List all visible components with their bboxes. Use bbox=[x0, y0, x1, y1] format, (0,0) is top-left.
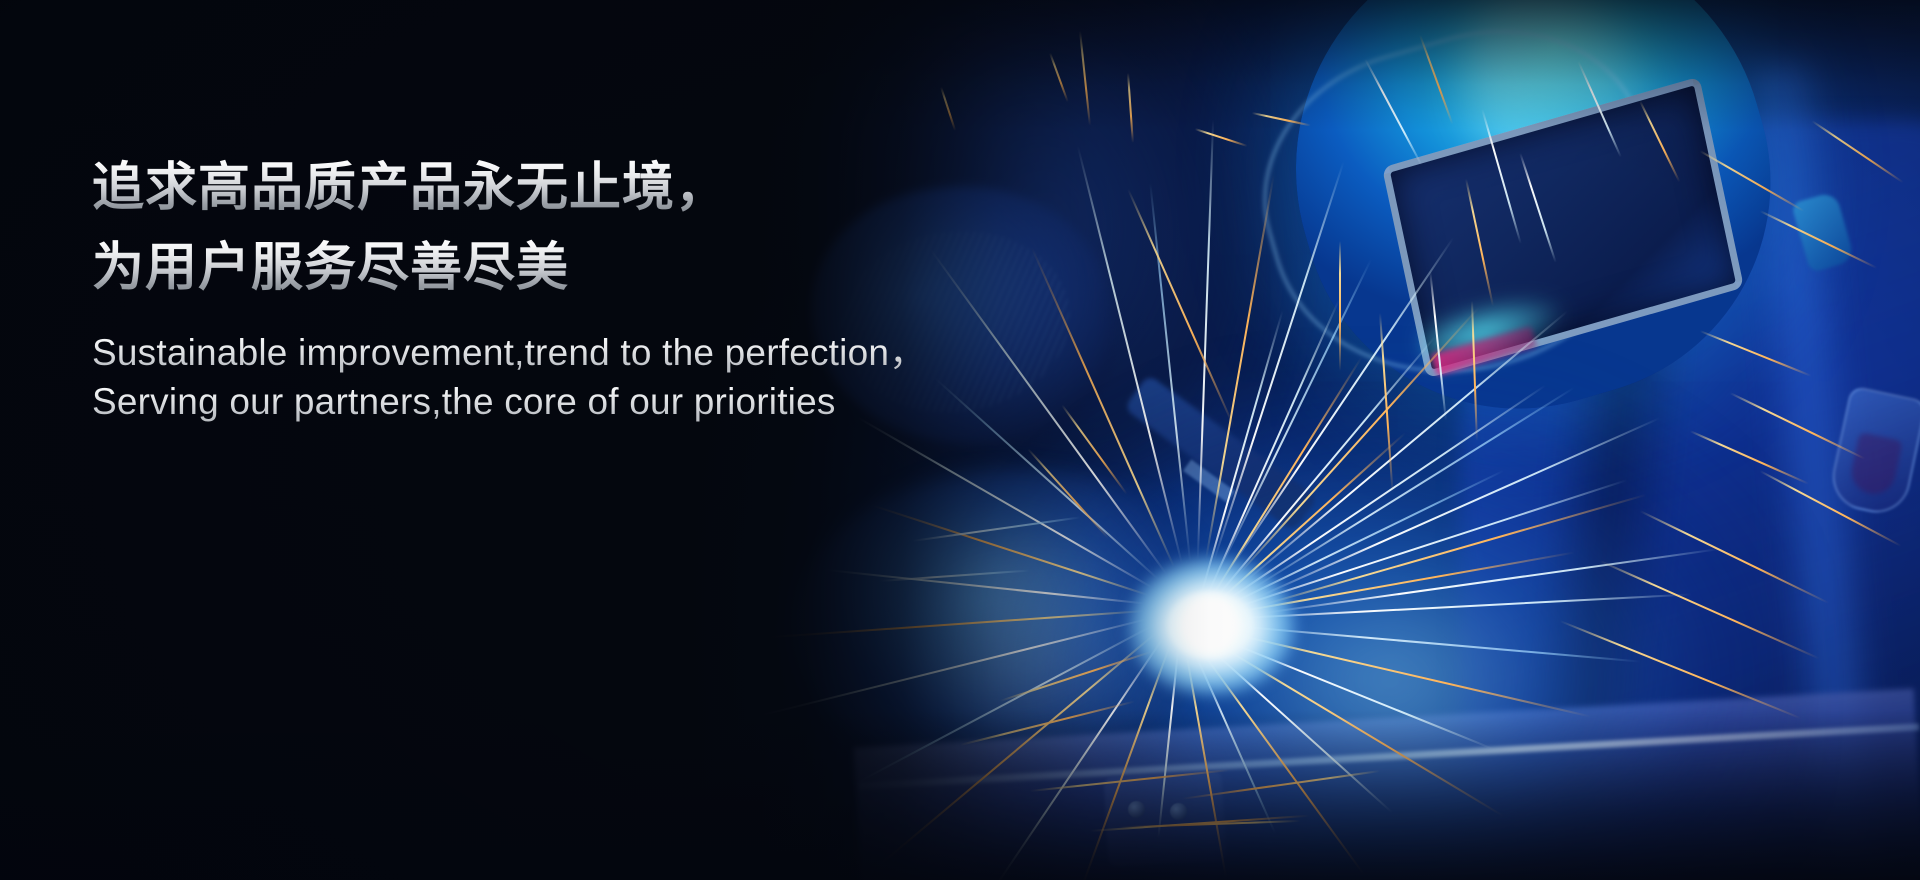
subheadline-line-2: Serving our partners,the core of our pri… bbox=[92, 377, 1132, 426]
welding-background-image bbox=[0, 0, 1920, 880]
hero-banner: 追求高品质产品永无止境， 为用户服务尽善尽美 Sustainable impro… bbox=[0, 0, 1920, 880]
subheadline-group: Sustainable improvement,trend to the per… bbox=[92, 328, 1132, 426]
subheadline-line-1: Sustainable improvement,trend to the per… bbox=[92, 328, 1132, 377]
banner-copy: 追求高品质产品永无止境， 为用户服务尽善尽美 Sustainable impro… bbox=[92, 148, 1132, 426]
headline-line-2: 为用户服务尽善尽美 bbox=[92, 228, 1132, 308]
vignette-overlay bbox=[0, 0, 1920, 880]
headline-line-1: 追求高品质产品永无止境， bbox=[92, 148, 1132, 228]
